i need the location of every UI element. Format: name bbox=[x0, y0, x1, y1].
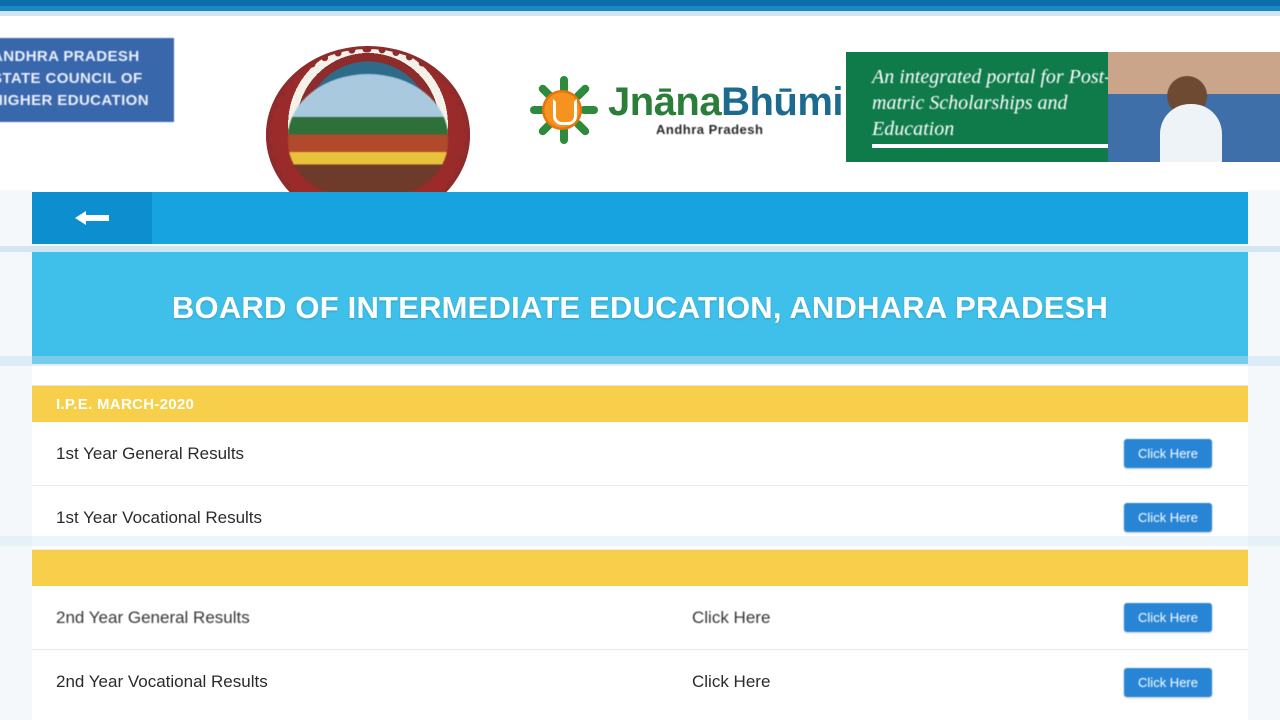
sun-icon bbox=[542, 90, 582, 130]
section-header-ipe-march-2020: I.P.E. MARCH-2020 bbox=[32, 386, 1248, 422]
promo-banner-divider bbox=[872, 144, 1126, 148]
click-here-button[interactable]: Click Here bbox=[1124, 603, 1212, 632]
row-middle-link[interactable]: Click Here bbox=[692, 672, 770, 692]
page-root: ANDHRA PRADESH STATE COUNCIL OF HIGHER E… bbox=[0, 0, 1280, 720]
click-here-button[interactable]: Click Here bbox=[1124, 668, 1212, 697]
site-banner: ANDHRA PRADESH STATE COUNCIL OF HIGHER E… bbox=[0, 22, 1280, 190]
table-row: 2nd Year Vocational Results Click Here C… bbox=[32, 650, 1248, 714]
table-row: 2nd Year General Results Click Here Clic… bbox=[32, 586, 1248, 650]
navbar-shadow bbox=[32, 244, 1248, 252]
promo-banner-text: An integrated portal for Post-matric Sch… bbox=[872, 64, 1132, 142]
row-label: 1st Year General Results bbox=[56, 444, 244, 464]
page-navbar bbox=[32, 192, 1248, 244]
promo-banner-photo bbox=[1108, 52, 1280, 162]
row-label: 2nd Year Vocational Results bbox=[56, 672, 268, 692]
site-logo-text: JnānaBhūmi bbox=[608, 80, 843, 125]
title-gap bbox=[32, 364, 1248, 386]
site-logo-text-suffix: Bhūmi bbox=[721, 80, 843, 124]
back-button[interactable] bbox=[32, 192, 152, 244]
site-logo-subtitle: Andhra Pradesh bbox=[656, 122, 763, 137]
click-here-button[interactable]: Click Here bbox=[1124, 503, 1212, 532]
section-header-secondary bbox=[32, 550, 1248, 586]
page-title-band: BOARD OF INTERMEDIATE EDUCATION, ANDHARA… bbox=[32, 252, 1248, 364]
promo-banner: An integrated portal for Post-matric Sch… bbox=[846, 52, 1280, 162]
row-middle-link[interactable]: Click Here bbox=[692, 608, 770, 628]
jnanabhumi-logo-icon bbox=[528, 78, 600, 142]
page-right-margin bbox=[1248, 190, 1280, 720]
government-badge: ANDHRA PRADESH STATE COUNCIL OF HIGHER E… bbox=[0, 38, 174, 122]
row-label: 2nd Year General Results bbox=[56, 608, 250, 628]
table-row: 1st Year Vocational Results Click Here bbox=[32, 486, 1248, 550]
click-here-button[interactable]: Click Here bbox=[1124, 439, 1212, 468]
page-left-margin bbox=[0, 190, 32, 720]
table-row: 1st Year General Results Click Here bbox=[32, 422, 1248, 486]
arrow-left-icon bbox=[73, 209, 111, 227]
page-title: BOARD OF INTERMEDIATE EDUCATION, ANDHARA… bbox=[172, 290, 1108, 326]
site-logo-text-prefix: Jnāna bbox=[608, 80, 721, 124]
results-card: I.P.E. MARCH-2020 1st Year General Resul… bbox=[32, 386, 1248, 720]
row-label: 1st Year Vocational Results bbox=[56, 508, 262, 528]
